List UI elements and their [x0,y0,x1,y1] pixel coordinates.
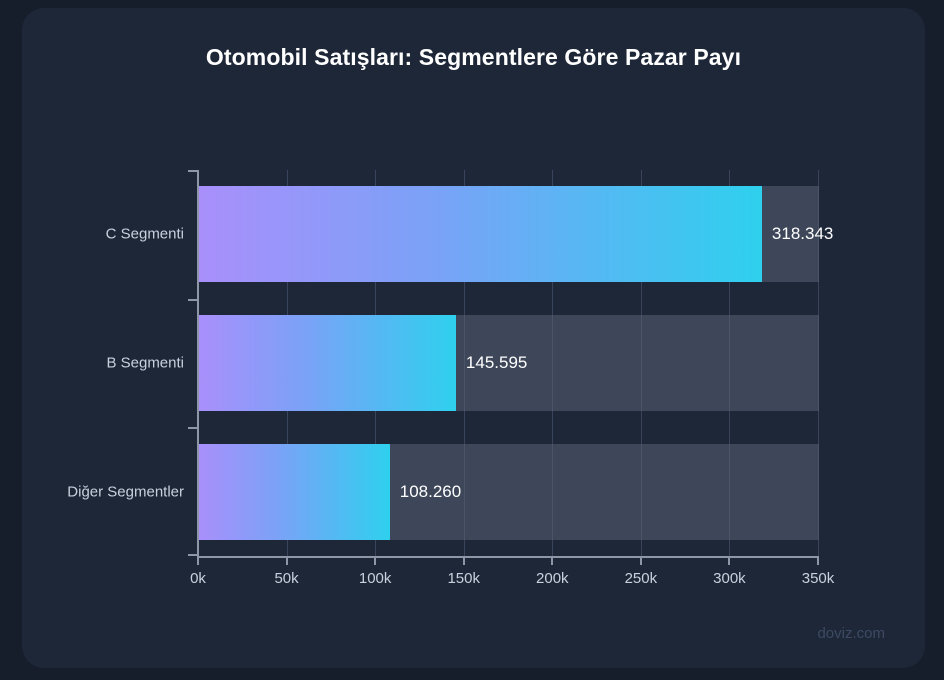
bar-row[interactable]: 145.595 [198,315,818,411]
x-axis-tick [640,556,642,565]
y-axis-category-label: B Segmenti [106,355,184,372]
x-axis-tick-label: 300k [713,570,746,587]
x-axis-tick-label: 250k [625,570,658,587]
gridline [552,444,553,540]
bar[interactable] [198,444,390,540]
bar-value-label: 318.343 [772,224,833,244]
bar[interactable] [198,315,456,411]
bar-value-label: 145.595 [466,353,527,373]
gridline [464,444,465,540]
x-axis-tick [551,556,553,565]
chart-card: Otomobil Satışları: Segmentlere Göre Paz… [22,8,925,668]
x-axis-tick-label: 0k [190,570,206,587]
gridline [641,315,642,411]
chart-title: Otomobil Satışları: Segmentlere Göre Paz… [22,44,925,71]
x-axis-tick-label: 350k [802,570,835,587]
gridline [552,315,553,411]
x-axis-tick [374,556,376,565]
gridline [818,315,819,411]
x-axis-tick-label: 150k [447,570,480,587]
bar-row[interactable]: 108.260 [198,444,818,540]
gridline [818,444,819,540]
bar-row[interactable]: 318.343 [198,186,818,282]
x-axis-tick [728,556,730,565]
watermark: doviz.com [817,625,885,642]
gridline [729,444,730,540]
x-axis-line [197,556,818,558]
x-axis-tick [817,556,819,565]
gridline [729,315,730,411]
x-axis-tick [286,556,288,565]
x-axis-tick-label: 50k [274,570,298,587]
gridline [464,315,465,411]
x-axis-tick [463,556,465,565]
plot-area: 318.343145.595108.260 C SegmentiB Segmen… [198,170,818,556]
x-axis-tick-label: 100k [359,570,392,587]
bar[interactable] [198,186,762,282]
y-axis-category-label: Diğer Segmentler [67,483,184,500]
x-axis-tick [197,556,199,565]
bar-value-label: 108.260 [400,482,461,502]
y-axis-category-labels: C SegmentiB SegmentiDiğer Segmentler [0,170,198,556]
y-axis-category-label: C Segmenti [106,226,184,243]
x-axis-tick-label: 200k [536,570,569,587]
gridline [641,444,642,540]
